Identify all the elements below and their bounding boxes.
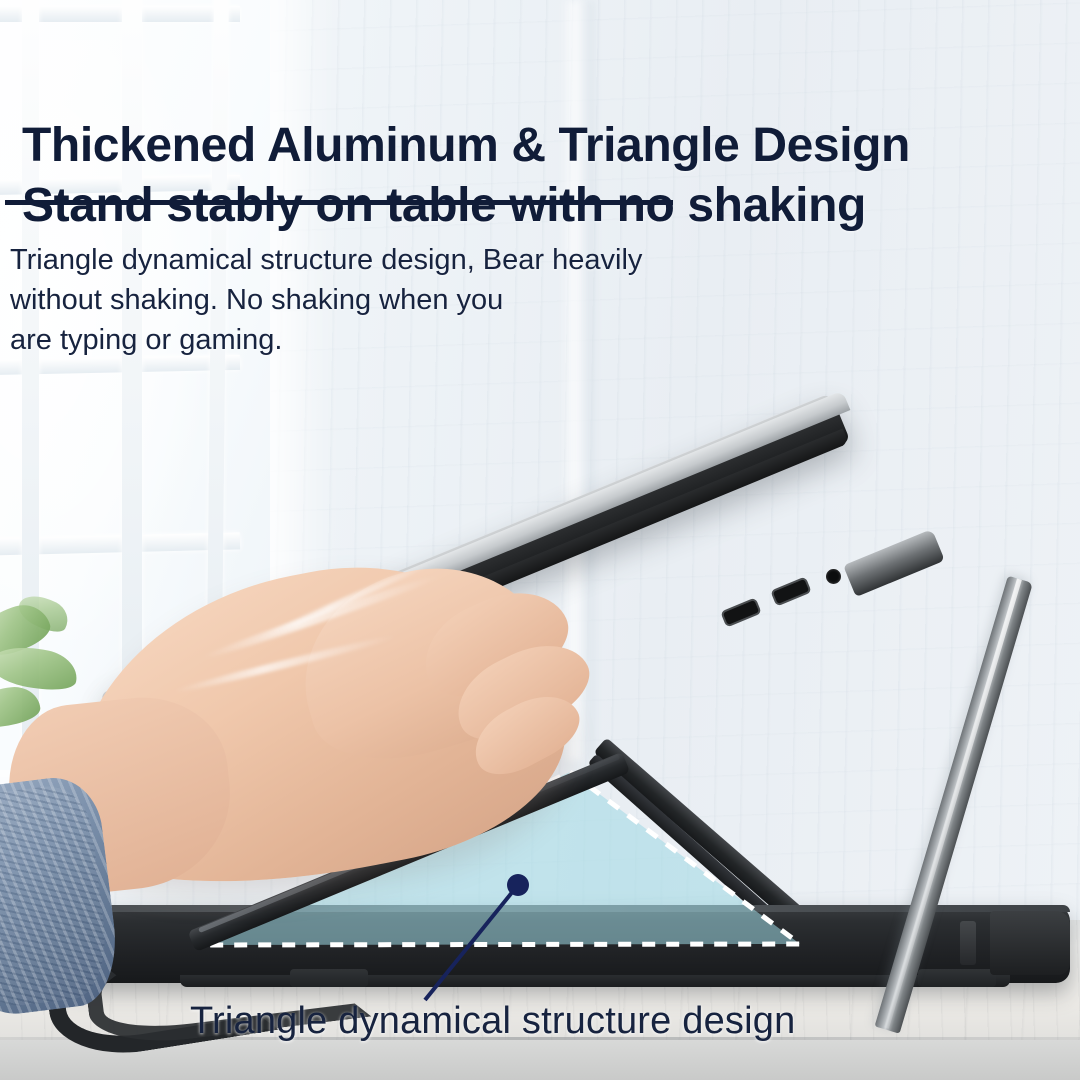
headline-line-1: Thickened Aluminum & Triangle Design (22, 119, 910, 172)
stand-foot-pad (918, 969, 996, 987)
stand-right-notch (960, 921, 976, 965)
stand-right-cap (990, 911, 1070, 975)
body-copy: Triangle dynamical structure design, Bea… (10, 240, 840, 360)
headline-line-2: Stand stably on table with no shaking (22, 176, 1032, 236)
headline-divider-rule (5, 200, 673, 205)
headphone-jack-icon (826, 569, 841, 584)
callout-caption: Triangle dynamical structure design (190, 998, 795, 1044)
product-feature-poster: Thickened Aluminum & Triangle Design Sta… (0, 0, 1080, 1080)
